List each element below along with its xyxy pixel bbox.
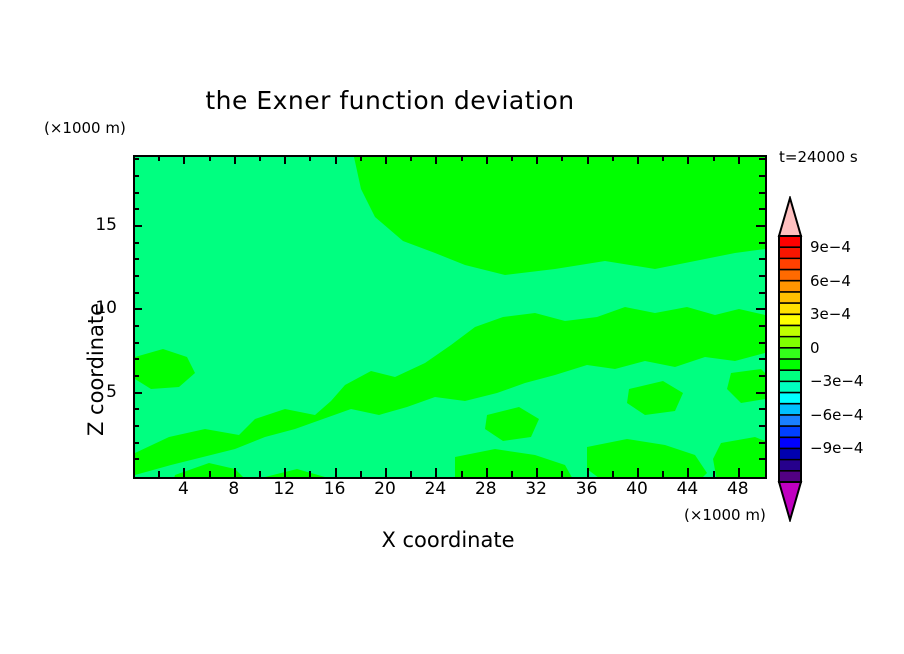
colorbar-band: [779, 448, 801, 460]
x-tick-bottom: [511, 471, 513, 477]
x-tick-label: 24: [425, 479, 447, 499]
x-tick-bottom: [637, 468, 639, 477]
y-tick-left: [133, 158, 139, 160]
y-tick-right: [756, 308, 765, 310]
y-tick-right: [759, 258, 765, 260]
y-tick-right: [759, 325, 765, 327]
x-tick-label: 48: [727, 479, 749, 499]
y-tick-left: [133, 375, 139, 377]
x-tick-top: [183, 155, 185, 164]
x-tick-top: [536, 155, 538, 164]
x-tick-top: [309, 155, 311, 161]
y-tick-left: [133, 292, 139, 294]
x-tick-label: 20: [374, 479, 396, 499]
y-tick-right: [759, 458, 765, 460]
y-tick-right: [759, 292, 765, 294]
contour-plot-area: [133, 155, 767, 479]
x-tick-top: [687, 155, 689, 164]
x-tick-bottom: [713, 471, 715, 477]
y-tick-left: [133, 408, 139, 410]
x-tick-bottom: [360, 471, 362, 477]
x-axis-unit-label: (×1000 m): [684, 506, 766, 524]
x-tick-top: [234, 155, 236, 164]
x-tick-bottom: [687, 468, 689, 477]
y-tick-right: [759, 442, 765, 444]
colorbar-tick-label: 0: [810, 339, 820, 357]
colorbar-tick-label: −6e−4: [810, 406, 863, 424]
x-tick-top: [612, 155, 614, 161]
x-tick-bottom: [587, 468, 589, 477]
x-tick-bottom: [662, 471, 664, 477]
y-axis-title: Z coordinate: [84, 303, 108, 436]
colorbar-band: [779, 359, 801, 371]
colorbar-band: [779, 471, 801, 483]
x-tick-top: [738, 155, 740, 164]
y-tick-left: [133, 358, 139, 360]
y-tick-right: [759, 275, 765, 277]
y-tick-label: 5: [7, 382, 117, 402]
y-tick-left: [133, 225, 142, 227]
y-tick-right: [759, 342, 765, 344]
contour-field: [135, 157, 765, 477]
x-tick-label: 12: [273, 479, 295, 499]
y-tick-right: [759, 175, 765, 177]
chart-canvas: the Exner function deviation (×1000 m) (…: [0, 0, 904, 654]
y-tick-right: [759, 242, 765, 244]
y-tick-left: [133, 392, 142, 394]
colorbar-tick-label: −9e−4: [810, 439, 863, 457]
x-tick-label: 44: [677, 479, 699, 499]
y-tick-right: [759, 425, 765, 427]
x-tick-bottom: [612, 471, 614, 477]
x-tick-top: [435, 155, 437, 164]
x-tick-bottom: [158, 471, 160, 477]
y-tick-right: [756, 392, 765, 394]
colorbar-band: [779, 236, 801, 248]
y-tick-left: [133, 175, 139, 177]
x-tick-bottom: [209, 471, 211, 477]
y-tick-label: 10: [7, 298, 117, 318]
x-tick-top: [587, 155, 589, 164]
x-tick-top: [410, 155, 412, 161]
x-tick-top: [637, 155, 639, 164]
y-tick-left: [133, 425, 139, 427]
x-tick-top: [335, 155, 337, 164]
colorbar-band: [779, 370, 801, 382]
y-tick-left: [133, 325, 139, 327]
colorbar-band: [779, 348, 801, 360]
colorbar-tick-label: −3e−4: [810, 372, 863, 390]
colorbar-band: [779, 292, 801, 304]
x-tick-label: 40: [626, 479, 648, 499]
colorbar-band: [779, 460, 801, 472]
x-tick-bottom: [234, 468, 236, 477]
x-tick-bottom: [435, 468, 437, 477]
x-tick-bottom: [183, 468, 185, 477]
colorbar-band: [779, 258, 801, 270]
x-tick-bottom: [259, 471, 261, 477]
colorbar-under-arrow: [779, 482, 801, 520]
y-tick-left: [133, 442, 139, 444]
colorbar-band: [779, 337, 801, 349]
x-tick-top: [662, 155, 664, 161]
x-tick-bottom: [738, 468, 740, 477]
x-tick-label: 36: [576, 479, 598, 499]
x-tick-bottom: [335, 468, 337, 477]
colorbar-band: [779, 437, 801, 449]
x-tick-bottom: [410, 471, 412, 477]
x-tick-top: [259, 155, 261, 161]
x-tick-top: [511, 155, 513, 161]
y-tick-right: [759, 375, 765, 377]
colorbar-band: [779, 415, 801, 427]
x-tick-top: [713, 155, 715, 161]
x-tick-label: 8: [228, 479, 239, 499]
y-tick-right: [759, 358, 765, 360]
y-tick-right: [759, 408, 765, 410]
x-tick-label: 16: [324, 479, 346, 499]
y-tick-left: [133, 208, 139, 210]
x-tick-bottom: [385, 468, 387, 477]
y-tick-right: [756, 225, 765, 227]
y-tick-left: [133, 258, 139, 260]
y-axis-unit-label: (×1000 m): [44, 119, 126, 137]
colorbar-tick-label: 3e−4: [810, 305, 851, 323]
colorbar-band: [779, 393, 801, 405]
x-tick-top: [486, 155, 488, 164]
y-tick-left: [133, 242, 139, 244]
y-tick-label: 15: [7, 215, 117, 235]
colorbar-band: [779, 281, 801, 293]
x-tick-label: 4: [178, 479, 189, 499]
colorbar-tick-label: 9e−4: [810, 238, 851, 256]
timestamp-annotation: t=24000 s: [779, 148, 858, 166]
colorbar-band: [779, 247, 801, 259]
x-tick-bottom: [561, 471, 563, 477]
x-axis-title: X coordinate: [133, 528, 763, 552]
y-tick-left: [133, 275, 139, 277]
x-tick-bottom: [309, 471, 311, 477]
x-tick-top: [284, 155, 286, 164]
x-tick-bottom: [461, 471, 463, 477]
colorbar-band: [779, 325, 801, 337]
y-tick-left: [133, 308, 142, 310]
y-tick-left: [133, 342, 139, 344]
colorbar-band: [779, 303, 801, 315]
colorbar-band: [779, 381, 801, 393]
colorbar-tick-label: 6e−4: [810, 272, 851, 290]
y-tick-right: [759, 208, 765, 210]
colorbar-band: [779, 270, 801, 282]
x-tick-top: [158, 155, 160, 161]
x-tick-bottom: [486, 468, 488, 477]
colorbar-band: [779, 426, 801, 438]
x-tick-bottom: [284, 468, 286, 477]
x-tick-top: [561, 155, 563, 161]
page-title: the Exner function deviation: [0, 86, 780, 115]
y-tick-right: [759, 192, 765, 194]
y-tick-right: [759, 158, 765, 160]
x-tick-label: 28: [475, 479, 497, 499]
x-tick-top: [461, 155, 463, 161]
x-tick-top: [209, 155, 211, 161]
x-tick-top: [360, 155, 362, 161]
y-tick-left: [133, 192, 139, 194]
colorbar-band: [779, 314, 801, 326]
x-tick-bottom: [536, 468, 538, 477]
colorbar-over-arrow: [779, 198, 801, 236]
x-tick-label: 32: [525, 479, 547, 499]
colorbar-band: [779, 404, 801, 416]
y-tick-left: [133, 458, 139, 460]
x-tick-top: [385, 155, 387, 164]
